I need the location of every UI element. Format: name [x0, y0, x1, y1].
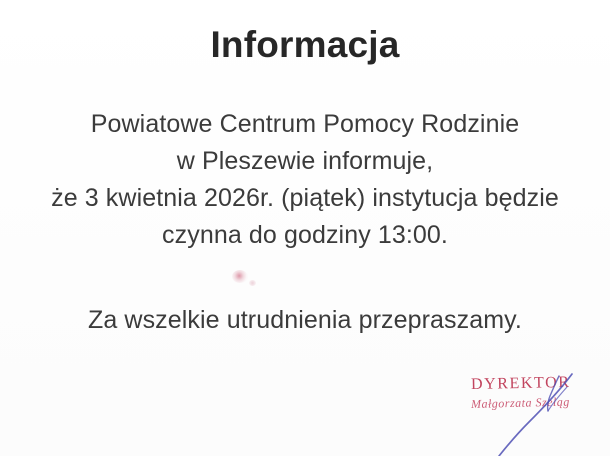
stamp-role-label: DYREKTOR [471, 374, 571, 394]
body-line: w Pleszewie informuje, [0, 143, 610, 180]
stamp-name-label: Małgorzata Szeląg [471, 395, 570, 412]
apology-line: Za wszelkie utrudnienia przepraszamy. [0, 302, 610, 339]
body-line: Powiatowe Centrum Pomocy Rodzinie [0, 106, 610, 143]
ink-smudge-artifact-secondary [249, 280, 256, 286]
body-line: że 3 kwietnia 2026r. (piątek) instytucja… [0, 180, 610, 217]
ink-smudge-artifact [232, 270, 248, 283]
director-stamp: DYREKTOR Małgorzata Szeląg [455, 370, 595, 450]
body-line: czynna do godziny 13:00. [0, 217, 610, 254]
notice-body: Powiatowe Centrum Pomocy Rodzinie w Ples… [0, 106, 610, 254]
page-title: Informacja [0, 24, 610, 65]
notice-document: Informacja Powiatowe Centrum Pomocy Rodz… [0, 0, 610, 456]
